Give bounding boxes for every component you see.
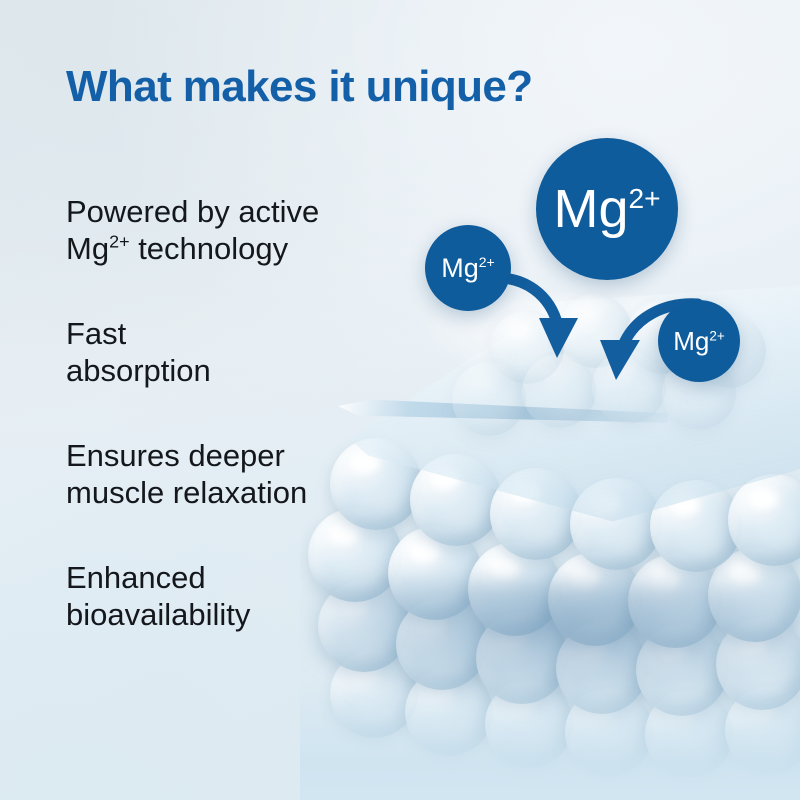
mg-ion-left-charge: 2+: [479, 254, 495, 270]
mg-ion-large-charge: 2+: [629, 183, 661, 214]
mg-ion-left-symbol: Mg: [441, 253, 479, 284]
infographic-canvas: Mg2+ Mg2+ Mg2+ What makes it unique? Pow…: [0, 0, 800, 800]
feature-item-1-line1: Powered by active: [66, 193, 366, 230]
feature-item-1-tail: technology: [130, 231, 289, 266]
mg-ion-right: Mg2+: [658, 300, 740, 382]
feature-item-4-line1: Enhanced: [66, 559, 366, 596]
feature-item-1: Powered by active Mg2+ technology: [66, 193, 366, 267]
feature-item-2-line1: Fast: [66, 315, 366, 352]
feature-item-1-charge: 2+: [109, 232, 130, 252]
feature-item-3: Ensures deeper muscle relaxation: [66, 437, 366, 511]
feature-item-4-line2: bioavailability: [66, 596, 366, 633]
mg-ion-left: Mg2+: [425, 225, 511, 311]
feature-item-1-symbol: Mg: [66, 231, 109, 266]
mg-ion-right-symbol: Mg: [673, 326, 709, 357]
mg-ion-right-charge: 2+: [709, 328, 724, 343]
feature-list: Powered by active Mg2+ technology Fast a…: [66, 193, 366, 633]
feature-item-3-line1: Ensures deeper: [66, 437, 366, 474]
product-fade: [300, 680, 800, 800]
mg-ion-large: Mg2+: [536, 138, 678, 280]
feature-item-3-line2: muscle relaxation: [66, 474, 366, 511]
mg-ion-large-symbol: Mg: [553, 178, 628, 240]
feature-item-2-line2: absorption: [66, 352, 366, 389]
feature-item-4: Enhanced bioavailability: [66, 559, 366, 633]
feature-item-2: Fast absorption: [66, 315, 366, 389]
page-title: What makes it unique?: [66, 62, 533, 112]
feature-item-1-line2: Mg2+ technology: [66, 230, 366, 267]
